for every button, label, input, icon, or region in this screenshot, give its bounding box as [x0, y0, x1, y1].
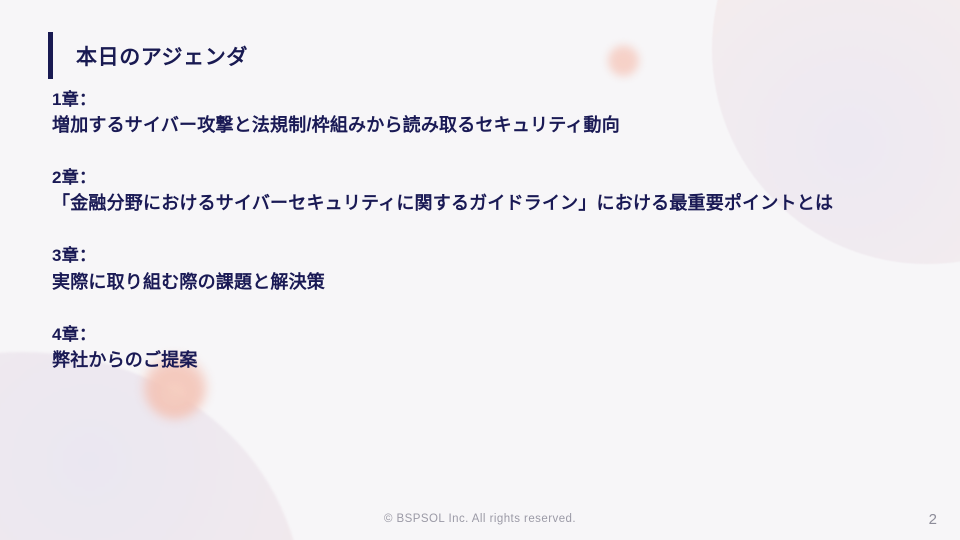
list-item: 4章： 弊社からのご提案 [52, 323, 932, 373]
chapter-label: 4章： [52, 323, 932, 347]
page-title: 本日のアジェンダ [76, 41, 248, 71]
slide-header: 本日のアジェンダ [48, 32, 248, 79]
list-item: 3章： 実際に取り組む際の課題と解決策 [52, 244, 932, 294]
title-accent-bar [48, 32, 53, 79]
chapter-title: 増加するサイバー攻撃と法規制/枠組みから読み取るセキュリティ動向 [52, 112, 932, 138]
chapter-title: 「金融分野におけるサイバーセキュリティに関するガイドライン」における最重要ポイン… [52, 190, 932, 216]
chapter-label: 2章： [52, 166, 932, 190]
chapter-label: 1章： [52, 88, 932, 112]
chapter-label: 3章： [52, 244, 932, 268]
decorative-blob-bottom-left [0, 352, 302, 540]
list-item: 1章： 増加するサイバー攻撃と法規制/枠組みから読み取るセキュリティ動向 [52, 88, 932, 138]
footer-copyright: © BSPSOL Inc. All rights reserved. [0, 513, 960, 525]
decorative-dot-small [607, 44, 640, 77]
page-number: 2 [929, 511, 937, 528]
list-item: 2章： 「金融分野におけるサイバーセキュリティに関するガイドライン」における最重… [52, 166, 932, 216]
slide-canvas: 本日のアジェンダ 1章： 増加するサイバー攻撃と法規制/枠組みから読み取るセキュ… [0, 0, 960, 540]
chapter-title: 実際に取り組む際の課題と解決策 [52, 269, 932, 295]
chapter-title: 弊社からのご提案 [52, 347, 932, 373]
agenda-list: 1章： 増加するサイバー攻撃と法規制/枠組みから読み取るセキュリティ動向 2章：… [52, 88, 932, 373]
